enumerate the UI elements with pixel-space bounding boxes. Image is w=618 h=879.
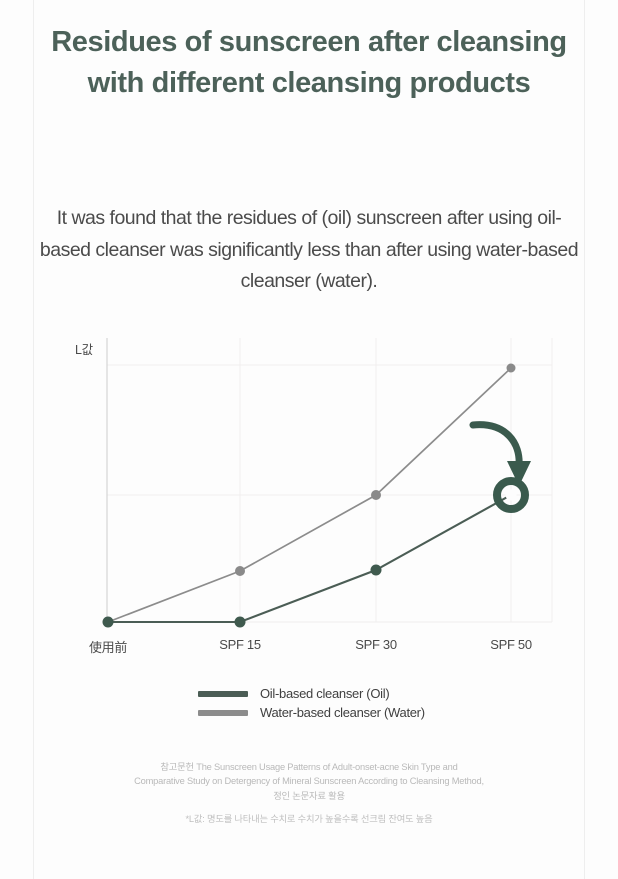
footnote-line-1: 참고문헌 The Sunscreen Usage Patterns of Adu…: [33, 760, 585, 774]
curved-arrow-icon: [473, 425, 531, 486]
footnote-reference: 참고문헌 The Sunscreen Usage Patterns of Adu…: [33, 760, 585, 803]
page-subtitle: It was found that the residues of (oil) …: [33, 203, 585, 298]
x-tick-2: SPF 30: [355, 637, 397, 652]
legend-swatch-water: [198, 710, 248, 716]
page-title: Residues of sunscreen after cleansing wi…: [33, 22, 585, 105]
series-line-oil: [108, 495, 511, 622]
legend-item-water: Water-based cleanser (Water): [33, 705, 585, 720]
legend-label-water: Water-based cleanser (Water): [260, 705, 425, 720]
x-tick-3: SPF 50: [490, 637, 532, 652]
line-chart: [0, 330, 618, 670]
footnote-l-value-note: *L값: 명도를 나타내는 수치로 수치가 높을수록 선크림 잔여도 높음: [33, 813, 585, 827]
footnote-line-2: Comparative Study on Detergency of Miner…: [33, 774, 585, 788]
chart-legend: Oil-based cleanser (Oil) Water-based cle…: [33, 686, 585, 724]
x-tick-0: 使用前: [89, 637, 127, 656]
legend-item-oil: Oil-based cleanser (Oil): [33, 686, 585, 701]
footnote-line-3: 정인 논문자료 활용: [33, 789, 585, 803]
grid-lines: [107, 365, 552, 495]
legend-swatch-oil: [198, 691, 248, 697]
x-tick-1: SPF 15: [219, 637, 261, 652]
legend-label-oil: Oil-based cleanser (Oil): [260, 686, 389, 701]
